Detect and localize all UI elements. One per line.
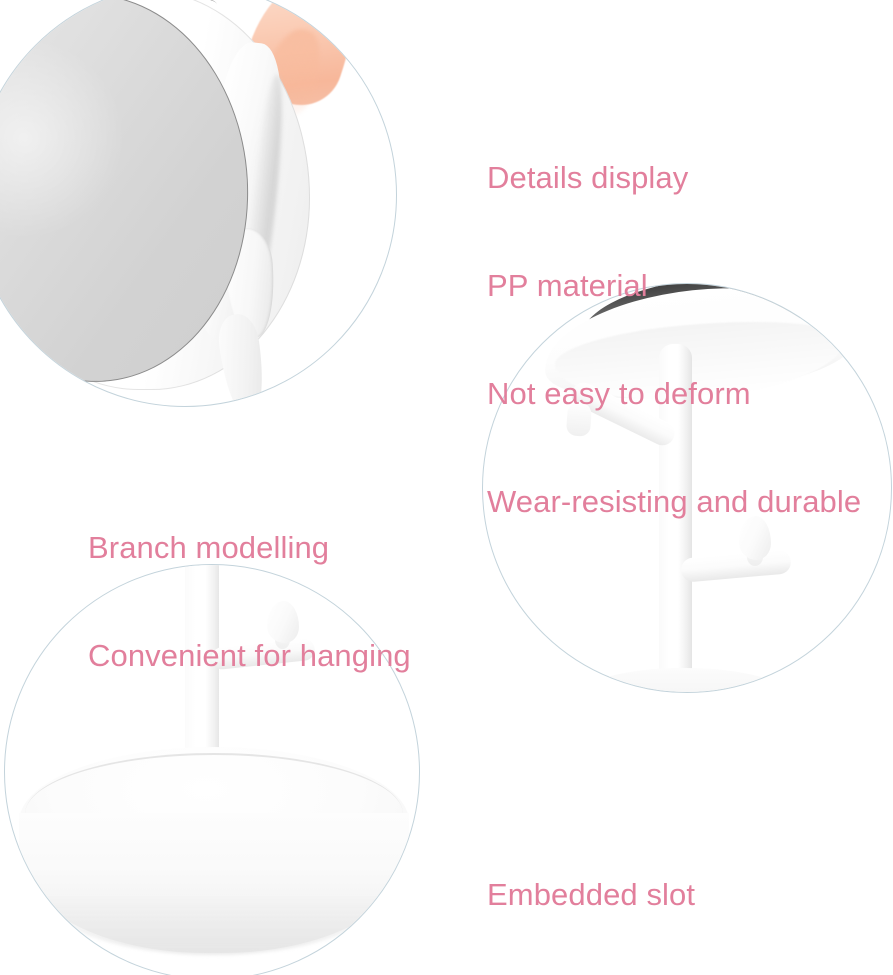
product-detail-infographic: Details display PP material Not easy to … [0,0,893,975]
caption-line: Wear-resisting and durable [487,484,861,520]
mirror-glass-highlight [0,33,129,243]
caption-line: Embedded slot [487,877,695,913]
caption-line: PP material [487,268,861,304]
caption-line: Details display [487,160,861,196]
caption-line: Not easy to deform [487,376,861,412]
tray-bottom-shadow [45,895,381,955]
details-display-caption: Details display PP material Not easy to … [487,88,861,592]
mirror-closeup-scene [0,0,396,406]
caption-line: Branch modelling [88,530,411,566]
branch-base-edge [579,668,789,692]
photo-mirror-closeup [0,0,397,407]
caption-line: Convenient for hanging [88,638,411,674]
embedded-slot-caption: Embedded slot Easy to install [487,805,695,975]
branch-modelling-caption: Branch modelling Convenient for hanging [88,458,411,746]
